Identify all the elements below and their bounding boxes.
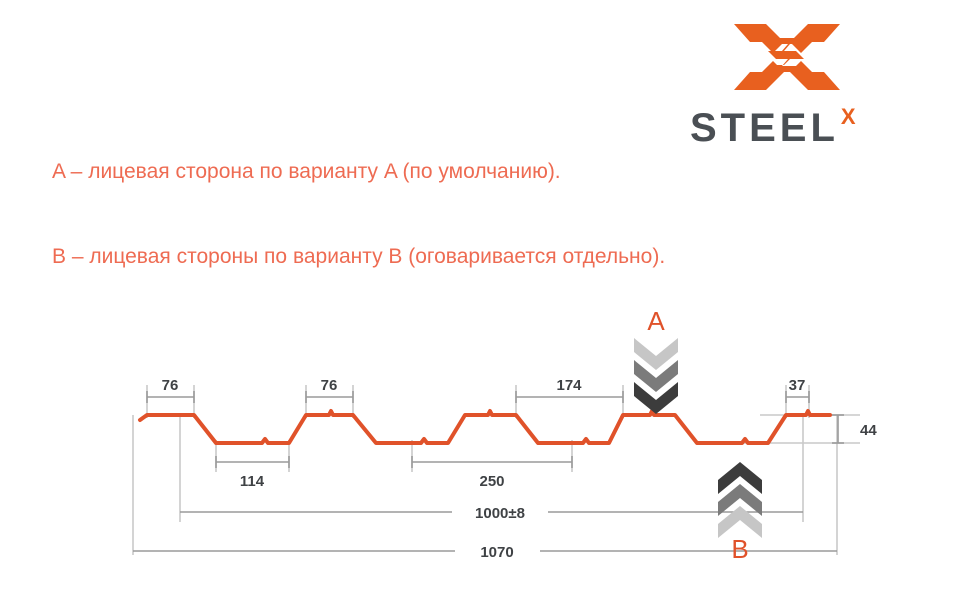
face-marker-a: A [634,306,678,414]
cross-section-drawing: 76 76 174 37 114 250 1000±8 1070 44 A [0,290,970,590]
page-root: STEEL X A – лицевая сторона по варианту … [0,0,970,597]
brand-wordmark: STEEL X [690,108,905,148]
dim-label-37: 37 [789,377,806,394]
dim-label-114: 114 [240,473,265,490]
dim-label-174: 174 [556,377,582,394]
dim-label-76-mid: 76 [321,377,338,394]
dimension-labels: 76 76 174 37 114 250 1000±8 1070 44 [162,377,878,561]
steelx-x-mark-icon [732,18,842,96]
caption-variant-a: A – лицевая сторона по варианту A (по ум… [52,160,561,184]
dim-label-1070: 1070 [480,544,513,561]
dim-label-250: 250 [479,473,504,490]
extension-lines [133,385,860,555]
brand-logo: STEEL X [690,18,905,143]
face-marker-a-label: A [647,306,665,336]
chevron-down-icon [634,338,678,414]
caption-variant-b: B – лицевая стороны по варианту B (огова… [52,245,665,269]
face-marker-b: B [718,462,762,564]
chevron-up-icon [718,462,762,538]
dim-label-76-left: 76 [162,377,179,394]
wordmark-superscript-x: X [841,106,856,128]
face-marker-b-label: B [731,534,748,564]
profile-outline [140,411,830,443]
wordmark-text: STEEL [690,108,839,148]
dim-label-44: 44 [860,422,877,439]
dim-label-1000: 1000±8 [475,505,525,522]
